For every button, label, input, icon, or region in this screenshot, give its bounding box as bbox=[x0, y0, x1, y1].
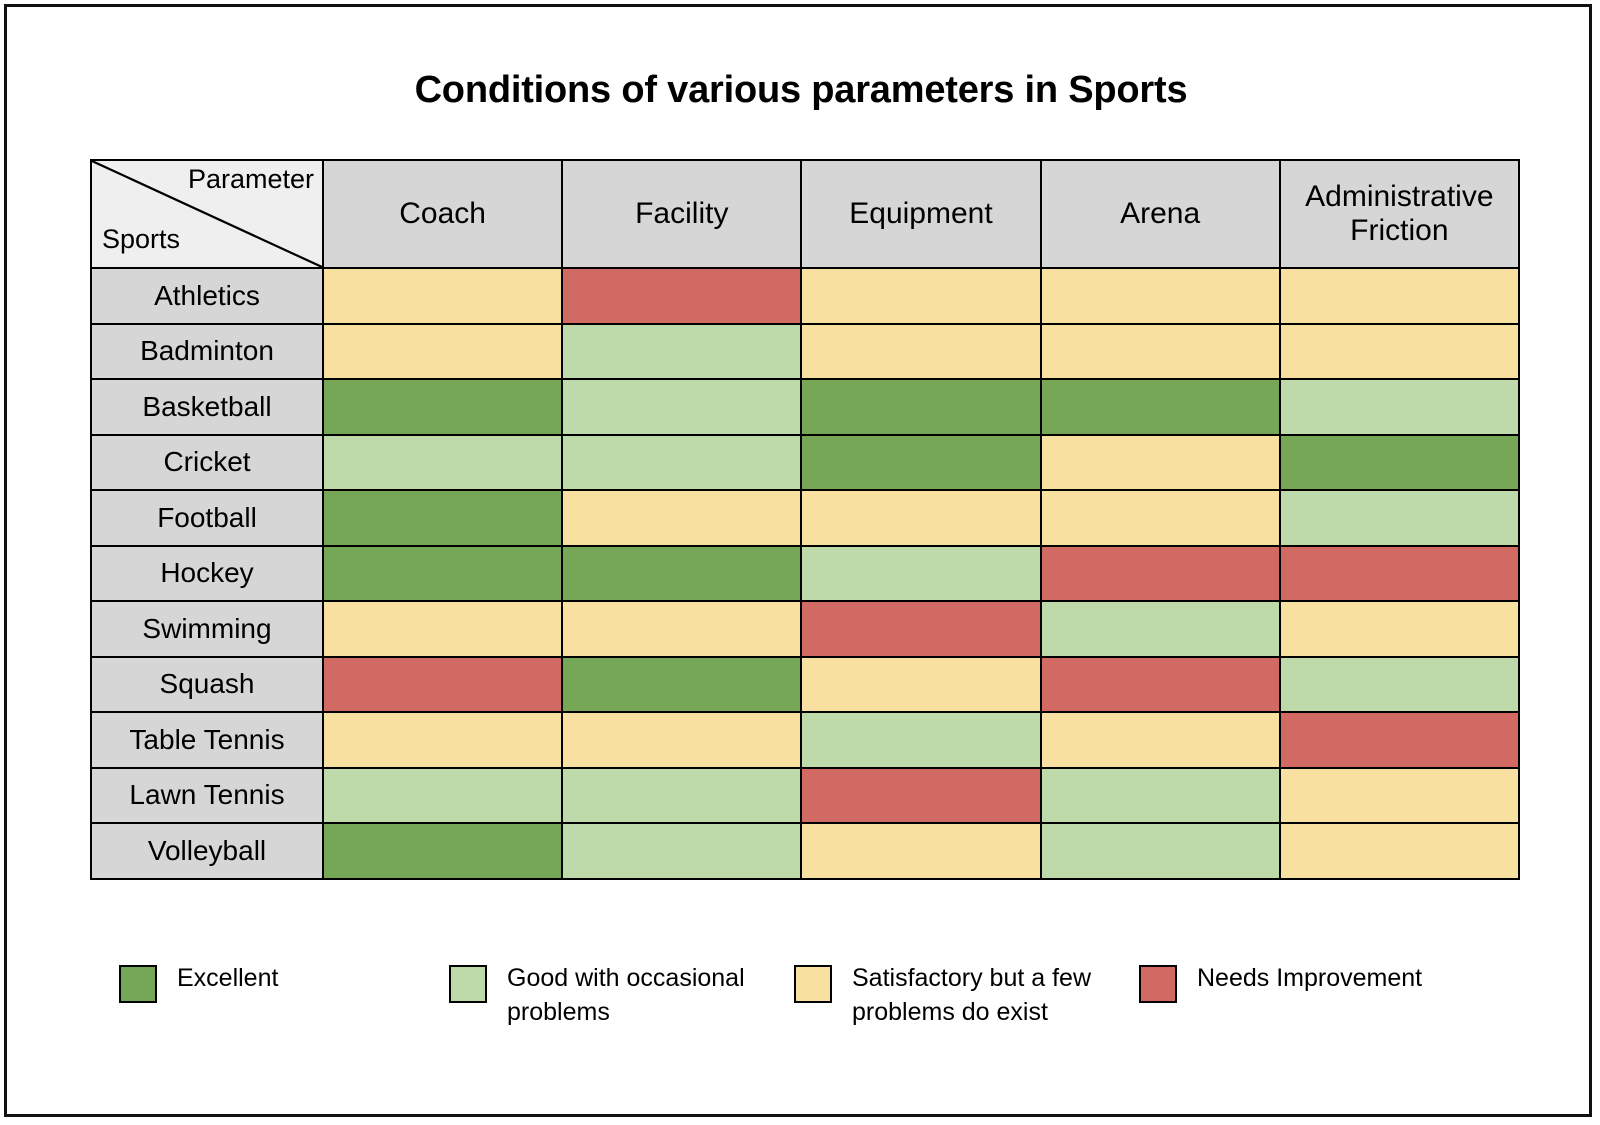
cell-table-tennis-administrative-friction bbox=[1280, 712, 1519, 768]
cell-football-administrative-friction bbox=[1280, 490, 1519, 546]
conditions-matrix-table: Parameter Sports Coach Facility Equipmen… bbox=[90, 159, 1520, 880]
cell-swimming-coach bbox=[323, 601, 562, 657]
cell-football-facility bbox=[562, 490, 801, 546]
cell-lawn-tennis-administrative-friction bbox=[1280, 768, 1519, 824]
table-row: Basketball bbox=[91, 379, 1519, 435]
cell-volleyball-facility bbox=[562, 823, 801, 879]
table-row: Athletics bbox=[91, 268, 1519, 324]
cell-volleyball-arena bbox=[1041, 823, 1280, 879]
cell-athletics-equipment bbox=[801, 268, 1040, 324]
cell-hockey-facility bbox=[562, 546, 801, 602]
legend-swatch-needs-improvement bbox=[1139, 965, 1177, 1003]
cell-swimming-administrative-friction bbox=[1280, 601, 1519, 657]
table-row: Squash bbox=[91, 657, 1519, 713]
column-header-administrative-friction: Administrative Friction bbox=[1280, 160, 1519, 268]
cell-squash-facility bbox=[562, 657, 801, 713]
cell-swimming-facility bbox=[562, 601, 801, 657]
legend-swatch-satisfactory bbox=[794, 965, 832, 1003]
corner-parameter-label: Parameter bbox=[188, 165, 314, 195]
row-header-football: Football bbox=[91, 490, 323, 546]
table-row: Volleyball bbox=[91, 823, 1519, 879]
cell-lawn-tennis-facility bbox=[562, 768, 801, 824]
table-row: Hockey bbox=[91, 546, 1519, 602]
table-row: Swimming bbox=[91, 601, 1519, 657]
cell-squash-equipment bbox=[801, 657, 1040, 713]
cell-swimming-arena bbox=[1041, 601, 1280, 657]
table-body: AthleticsBadmintonBasketballCricketFootb… bbox=[91, 268, 1519, 879]
legend: ExcellentGood with occasional problemsSa… bbox=[119, 962, 1519, 1030]
cell-athletics-coach bbox=[323, 268, 562, 324]
cell-athletics-administrative-friction bbox=[1280, 268, 1519, 324]
cell-football-equipment bbox=[801, 490, 1040, 546]
legend-swatch-excellent bbox=[119, 965, 157, 1003]
legend-item-excellent: Excellent bbox=[119, 962, 449, 1003]
cell-athletics-facility bbox=[562, 268, 801, 324]
cell-table-tennis-coach bbox=[323, 712, 562, 768]
page-title: Conditions of various parameters in Spor… bbox=[7, 69, 1595, 112]
row-header-basketball: Basketball bbox=[91, 379, 323, 435]
cell-lawn-tennis-arena bbox=[1041, 768, 1280, 824]
legend-label-excellent: Excellent bbox=[177, 962, 278, 996]
cell-volleyball-equipment bbox=[801, 823, 1040, 879]
legend-item-satisfactory: Satisfactory but a few problems do exist bbox=[794, 962, 1139, 1030]
cell-cricket-coach bbox=[323, 435, 562, 491]
cell-football-arena bbox=[1041, 490, 1280, 546]
cell-hockey-administrative-friction bbox=[1280, 546, 1519, 602]
cell-badminton-arena bbox=[1041, 324, 1280, 380]
row-header-athletics: Athletics bbox=[91, 268, 323, 324]
cell-hockey-arena bbox=[1041, 546, 1280, 602]
row-header-lawn-tennis: Lawn Tennis bbox=[91, 768, 323, 824]
cell-volleyball-coach bbox=[323, 823, 562, 879]
cell-table-tennis-facility bbox=[562, 712, 801, 768]
cell-badminton-coach bbox=[323, 324, 562, 380]
legend-item-good: Good with occasional problems bbox=[449, 962, 794, 1030]
legend-swatch-good bbox=[449, 965, 487, 1003]
cell-volleyball-administrative-friction bbox=[1280, 823, 1519, 879]
table-row: Table Tennis bbox=[91, 712, 1519, 768]
cell-squash-arena bbox=[1041, 657, 1280, 713]
cell-basketball-equipment bbox=[801, 379, 1040, 435]
cell-swimming-equipment bbox=[801, 601, 1040, 657]
column-header-arena: Arena bbox=[1041, 160, 1280, 268]
legend-item-needs-improvement: Needs Improvement bbox=[1139, 962, 1469, 1003]
cell-lawn-tennis-coach bbox=[323, 768, 562, 824]
cell-hockey-equipment bbox=[801, 546, 1040, 602]
cell-cricket-administrative-friction bbox=[1280, 435, 1519, 491]
cell-basketball-facility bbox=[562, 379, 801, 435]
row-header-cricket: Cricket bbox=[91, 435, 323, 491]
cell-cricket-equipment bbox=[801, 435, 1040, 491]
cell-basketball-administrative-friction bbox=[1280, 379, 1519, 435]
row-header-badminton: Badminton bbox=[91, 324, 323, 380]
cell-badminton-administrative-friction bbox=[1280, 324, 1519, 380]
column-header-facility: Facility bbox=[562, 160, 801, 268]
table-row: Football bbox=[91, 490, 1519, 546]
cell-squash-administrative-friction bbox=[1280, 657, 1519, 713]
legend-label-needs-improvement: Needs Improvement bbox=[1197, 962, 1422, 996]
table-header: Parameter Sports Coach Facility Equipmen… bbox=[91, 160, 1519, 268]
cell-basketball-arena bbox=[1041, 379, 1280, 435]
cell-basketball-coach bbox=[323, 379, 562, 435]
legend-label-good: Good with occasional problems bbox=[507, 962, 757, 1030]
cell-cricket-arena bbox=[1041, 435, 1280, 491]
header-row: Parameter Sports Coach Facility Equipmen… bbox=[91, 160, 1519, 268]
table-row: Lawn Tennis bbox=[91, 768, 1519, 824]
cell-lawn-tennis-equipment bbox=[801, 768, 1040, 824]
cell-athletics-arena bbox=[1041, 268, 1280, 324]
cell-cricket-facility bbox=[562, 435, 801, 491]
cell-football-coach bbox=[323, 490, 562, 546]
column-header-equipment: Equipment bbox=[801, 160, 1040, 268]
legend-label-satisfactory: Satisfactory but a few problems do exist bbox=[852, 962, 1102, 1030]
table-row: Cricket bbox=[91, 435, 1519, 491]
corner-sports-label: Sports bbox=[102, 225, 180, 255]
row-header-squash: Squash bbox=[91, 657, 323, 713]
cell-table-tennis-arena bbox=[1041, 712, 1280, 768]
cell-hockey-coach bbox=[323, 546, 562, 602]
row-header-volleyball: Volleyball bbox=[91, 823, 323, 879]
cell-table-tennis-equipment bbox=[801, 712, 1040, 768]
page-frame: Conditions of various parameters in Spor… bbox=[4, 4, 1592, 1117]
cell-badminton-equipment bbox=[801, 324, 1040, 380]
table-row: Badminton bbox=[91, 324, 1519, 380]
corner-axis-cell: Parameter Sports bbox=[91, 160, 323, 268]
cell-squash-coach bbox=[323, 657, 562, 713]
row-header-swimming: Swimming bbox=[91, 601, 323, 657]
row-header-hockey: Hockey bbox=[91, 546, 323, 602]
row-header-table-tennis: Table Tennis bbox=[91, 712, 323, 768]
column-header-coach: Coach bbox=[323, 160, 562, 268]
cell-badminton-facility bbox=[562, 324, 801, 380]
